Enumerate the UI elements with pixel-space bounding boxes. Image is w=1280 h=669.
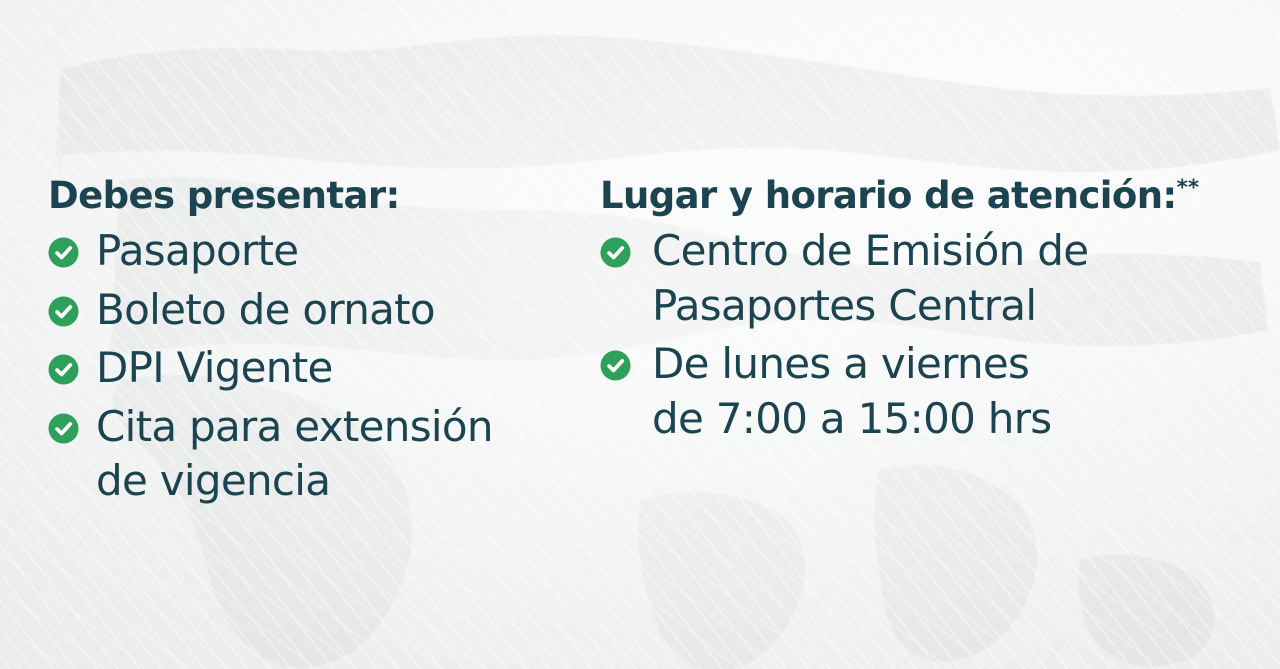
check-circle-icon [48,237,79,268]
list-item-text: Centro de Emisión de Pasaportes Central [652,224,1088,333]
heading-debes-presentar: Debes presentar: [48,176,578,216]
list-item-line: Pasaportes Central [652,279,1088,334]
list-item: De lunes a viernes de 7:00 a 15:00 hrs [600,337,1260,446]
list-item: DPI Vigente [48,341,578,396]
column-lugar-horario: Lugar y horario de atención:** Centro de… [600,176,1260,450]
column-requisitos: Debes presentar: Pasaporte [48,176,578,513]
list-item-line: de 7:00 a 15:00 hrs [652,392,1051,447]
list-item-text: De lunes a viernes de 7:00 a 15:00 hrs [652,337,1051,446]
list-item-line: Cita para extensión [96,400,493,455]
slide-canvas: Debes presentar: Pasaporte [0,0,1280,669]
check-circle-icon [600,350,631,381]
heading-text: Lugar y horario de atención: [600,174,1177,217]
list-item-line: de vigencia [96,454,493,509]
requisitos-list: Pasaporte Boleto de ornato [48,224,578,509]
check-circle-icon [48,413,79,444]
list-item-line: Pasaporte [96,224,298,279]
list-item-text: DPI Vigente [96,341,333,396]
heading-superscript: ** [1177,176,1199,201]
heading-text: Debes presentar: [48,174,400,217]
list-item: Pasaporte [48,224,578,279]
list-item-text: Boleto de ornato [96,283,435,338]
list-item: Cita para extensión de vigencia [48,400,578,509]
lugar-horario-list: Centro de Emisión de Pasaportes Central … [600,224,1260,446]
heading-lugar-horario: Lugar y horario de atención:** [600,176,1260,216]
check-circle-icon [600,237,631,268]
list-item: Boleto de ornato [48,283,578,338]
list-item-line: Centro de Emisión de [652,224,1088,279]
list-item-text: Cita para extensión de vigencia [96,400,493,509]
content-columns: Debes presentar: Pasaporte [0,0,1280,669]
check-circle-icon [48,354,79,385]
list-item-line: Boleto de ornato [96,283,435,338]
check-circle-icon [48,296,79,327]
list-item: Centro de Emisión de Pasaportes Central [600,224,1260,333]
list-item-line: De lunes a viernes [652,337,1051,392]
list-item-text: Pasaporte [96,224,298,279]
list-item-line: DPI Vigente [96,341,333,396]
